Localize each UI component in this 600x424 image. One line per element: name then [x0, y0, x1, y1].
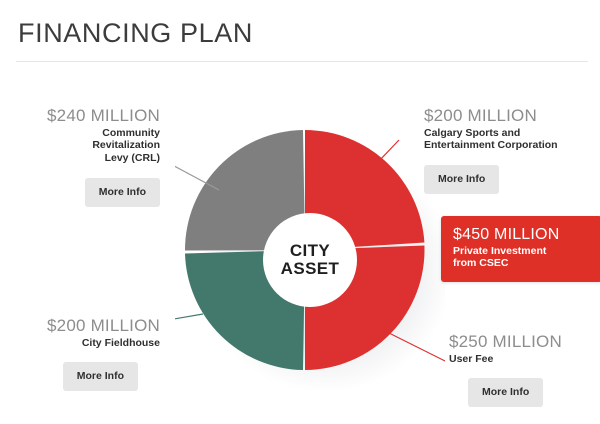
financing-donut-chart: CITY ASSET — [175, 118, 445, 398]
callout-private-description: Private Investment from CSEC — [453, 245, 590, 271]
callout-csec-amount: $200 MILLION — [424, 107, 596, 126]
callout-city-fieldhouse: $200 MILLION City Fieldhouse More Info — [8, 317, 160, 391]
more-info-button-crl[interactable]: More Info — [85, 178, 160, 207]
callout-private-amount: $450 MILLION — [453, 226, 590, 244]
callout-user-fee-amount: $250 MILLION — [449, 333, 599, 352]
leader-line-fieldhouse — [175, 314, 203, 326]
callout-crl: $240 MILLION Community Revitalization Le… — [8, 107, 160, 207]
callout-csec: $200 MILLION Calgary Sports and Entertai… — [424, 107, 596, 194]
header-divider — [16, 61, 588, 62]
more-info-button-fieldhouse[interactable]: More Info — [63, 362, 138, 391]
callout-crl-description: Community Revitalization Levy (CRL) — [8, 127, 160, 165]
callout-csec-description: Calgary Sports and Entertainment Corpora… — [424, 127, 596, 153]
center-label-line-1: CITY — [290, 242, 330, 260]
callout-crl-amount: $240 MILLION — [8, 107, 160, 126]
page-title: FINANCING PLAN — [18, 18, 253, 49]
callout-fieldhouse-description: City Fieldhouse — [8, 337, 160, 350]
more-info-button-user-fee[interactable]: More Info — [468, 378, 543, 407]
chart-center-hub: CITY ASSET — [263, 213, 357, 307]
callout-fieldhouse-amount: $200 MILLION — [8, 317, 160, 336]
center-label-line-2: ASSET — [281, 260, 340, 278]
callout-private-investment[interactable]: $450 MILLION Private Investment from CSE… — [441, 216, 600, 282]
callout-user-fee-description: User Fee — [449, 353, 599, 366]
callout-user-fee: $250 MILLION User Fee More Info — [449, 333, 599, 407]
more-info-button-csec[interactable]: More Info — [424, 165, 499, 194]
